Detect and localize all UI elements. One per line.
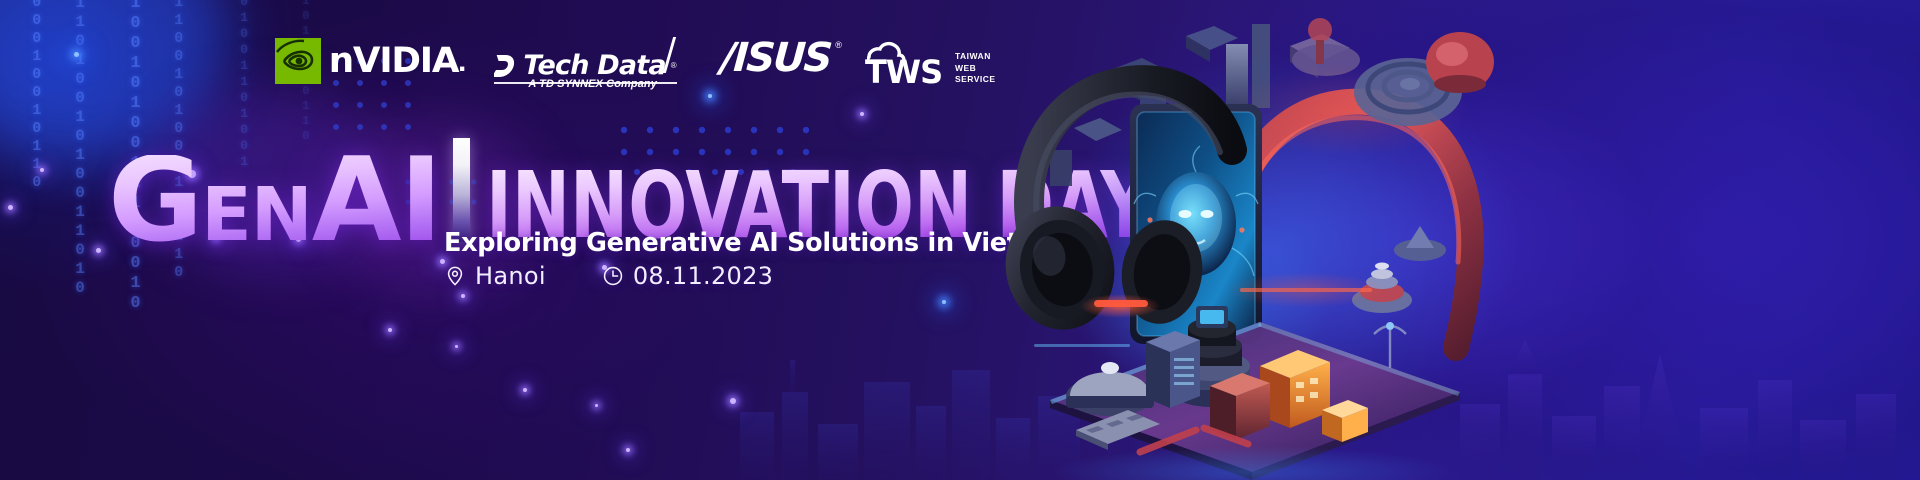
genai-letters-ai: AI <box>312 155 441 248</box>
glow-particle <box>595 404 598 407</box>
nvidia-eye-icon <box>275 38 321 84</box>
techdata-logo: Tech Data ® A TD SYNNEX Company <box>494 38 669 96</box>
date-value: 08.11.2023 <box>633 262 773 290</box>
genai-brand: G EN AI <box>108 155 441 248</box>
ai-tech-illustration <box>990 0 1550 480</box>
glow-particle <box>96 248 101 253</box>
tws-wordmark: TWS <box>865 56 942 88</box>
tws-logo: TWS TAIWAN WEB SERVICE <box>865 38 996 88</box>
glow-particle <box>8 205 13 210</box>
event-date: 08.11.2023 <box>602 262 773 290</box>
headline-divider <box>453 138 470 242</box>
city-skyline-silhouette <box>0 320 1920 480</box>
techdata-wordmark: Tech Data <box>523 52 665 79</box>
nvidia-wordmark: nVIDIA <box>329 44 459 79</box>
partner-logo-row: nVIDIA . Tech Data ® A TD SYNNEX Company… <box>275 38 996 92</box>
registered-mark: ® <box>671 61 677 70</box>
asus-logo: /ISUS ® <box>721 38 831 78</box>
glow-particle <box>860 112 864 116</box>
glow-particle <box>74 52 79 57</box>
glow-particle <box>461 294 465 298</box>
glow-particle <box>626 448 630 452</box>
glow-particle <box>40 168 44 172</box>
binary-stream: 1101001010011010 <box>73 0 86 194</box>
techdata-d-mark <box>494 53 518 79</box>
event-subtitle: Exploring Generative AI Solutions in Vie… <box>444 228 1080 258</box>
genai-letter-g: G <box>108 155 201 248</box>
asus-wordmark: /ISUS <box>720 38 832 78</box>
registered-mark: ® <box>835 40 842 50</box>
location-value: Hanoi <box>475 262 546 290</box>
nvidia-period: . <box>458 45 466 79</box>
location-pin-icon <box>444 265 466 287</box>
glow-particle <box>942 300 946 304</box>
binary-stream: 00010010110 <box>30 0 42 134</box>
clock-icon <box>602 265 624 287</box>
nvidia-logo: nVIDIA . <box>275 38 466 84</box>
glow-particle <box>730 398 736 404</box>
binary-stream: 01001101001 <box>238 0 249 114</box>
event-banner: 00010010110 1101001010011010 10010100111… <box>0 0 1920 480</box>
genai-letters-en: EN <box>201 186 311 245</box>
techdata-tagline: A TD SYNNEX Company <box>528 78 657 90</box>
glow-particle <box>708 94 712 98</box>
glow-particle <box>523 388 527 392</box>
event-meta-row: Hanoi 08.11.2023 <box>444 262 773 290</box>
glow-particle <box>455 345 458 348</box>
glow-particle <box>388 328 392 332</box>
event-location: Hanoi <box>444 262 546 290</box>
